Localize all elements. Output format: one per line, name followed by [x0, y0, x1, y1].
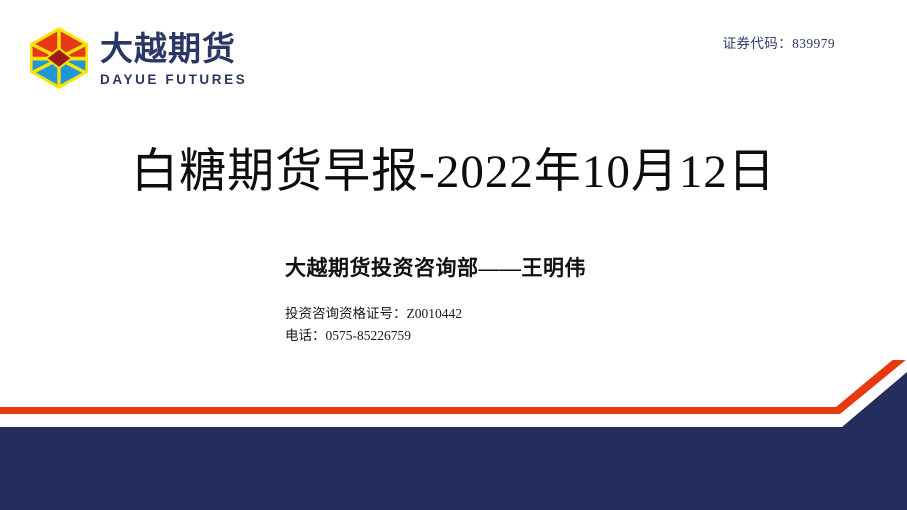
hexagon-logo-icon — [28, 26, 90, 90]
page-title: 白糖期货早报-2022年10月12日 — [0, 132, 907, 201]
navy-band-shape — [0, 370, 907, 510]
logo-wordmark: 大越期货 DAYUE FUTURES — [100, 29, 248, 87]
presentation-slide: 大越期货 DAYUE FUTURES 证券代码：839979 白糖期货早报-20… — [0, 0, 907, 510]
author-line: 大越期货投资咨询部——王明伟 — [285, 252, 586, 282]
securities-code: 证券代码：839979 — [723, 32, 835, 52]
logo-english-text: DAYUE FUTURES — [100, 73, 248, 87]
white-gap-stripe — [0, 360, 907, 427]
logo-chinese-text: 大越期货 — [100, 30, 236, 67]
company-logo: 大越期货 DAYUE FUTURES — [28, 26, 248, 90]
license-number: 投资咨询资格证号：Z0010442 — [285, 303, 462, 325]
bottom-decoration — [0, 360, 907, 510]
logo-chinese-wordmark-icon: 大越期货 — [100, 29, 248, 69]
contact-info: 投资咨询资格证号：Z0010442 电话：0575-85226759 — [285, 303, 462, 348]
phone-number: 电话：0575-85226759 — [285, 325, 462, 347]
orange-accent-line — [0, 360, 907, 414]
